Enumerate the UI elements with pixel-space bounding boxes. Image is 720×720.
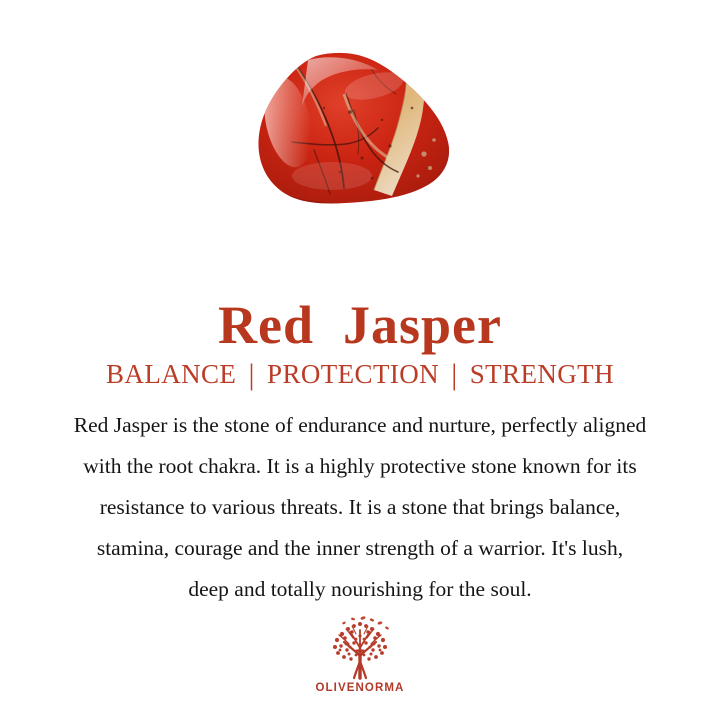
keyword-separator: |	[243, 359, 259, 391]
brand-wordmark: OLIVENORMA	[316, 681, 405, 695]
description-line: stamina, courage and the inner strength …	[0, 528, 720, 569]
product-image	[0, 50, 720, 230]
red-jasper-stone-illustration	[254, 50, 466, 218]
product-description: Red Jasper is the stone of endurance and…	[0, 405, 720, 610]
product-info-card: Red Jasper BALANCE | PROTECTION | STRENG…	[0, 0, 720, 720]
description-line: with the root chakra. It is a highly pro…	[0, 446, 720, 487]
keyword-line: BALANCE | PROTECTION | STRENGTH	[0, 358, 720, 390]
keyword-strength: STRENGTH	[470, 359, 614, 389]
page-title: Red Jasper	[0, 294, 720, 356]
keyword-protection: PROTECTION	[267, 359, 439, 389]
description-line: resistance to various threats. It is a s…	[0, 487, 720, 528]
tree-logo-icon	[323, 616, 397, 680]
keyword-balance: BALANCE	[106, 359, 236, 389]
brand-logo[interactable]: OLIVENORMA	[0, 616, 720, 695]
description-line: deep and totally nourishing for the soul…	[0, 569, 720, 610]
keyword-separator: |	[446, 359, 462, 391]
description-line: Red Jasper is the stone of endurance and…	[0, 405, 720, 446]
stone-body	[254, 50, 466, 218]
tree-branches	[339, 626, 381, 678]
